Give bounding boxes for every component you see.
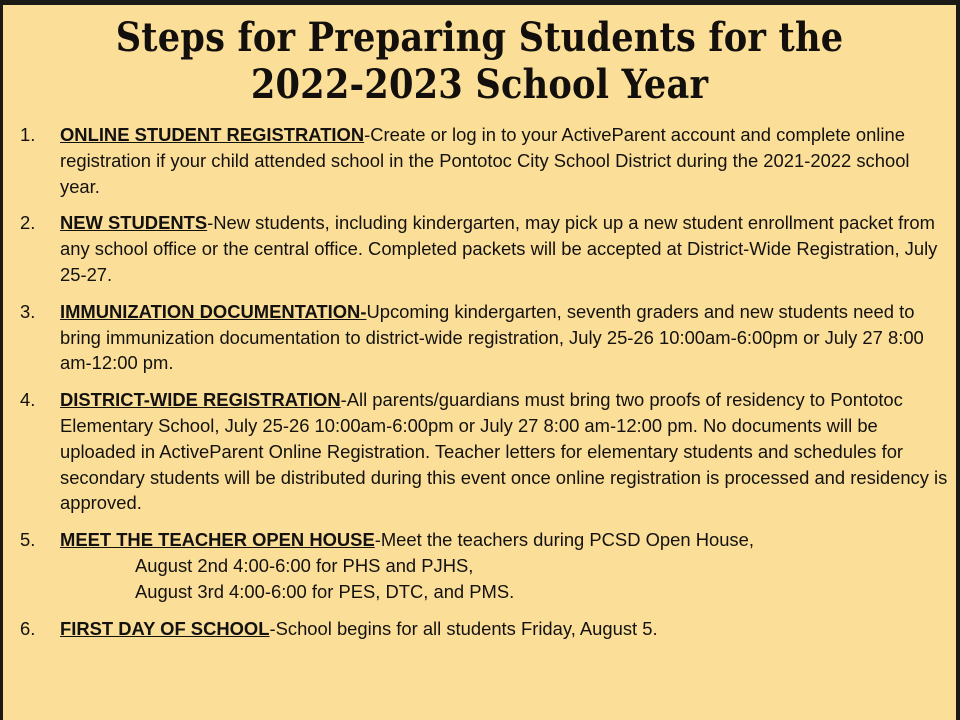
title-line-1: Steps for Preparing Students for the	[60, 14, 899, 61]
list-item-number: 3.	[20, 299, 50, 325]
list-item-text: NEW STUDENTS-New students, including kin…	[60, 210, 948, 287]
list-item-description: -Meet the teachers during PCSD Open Hous…	[375, 529, 754, 550]
list-item-text: FIRST DAY OF SCHOOL-School begins for al…	[60, 616, 948, 642]
list-item-description: -School begins for all students Friday, …	[269, 618, 657, 639]
list-item-number: 5.	[20, 527, 50, 553]
list-item: 3.IMMUNIZATION DOCUMENTATION-Upcoming ki…	[3, 299, 956, 376]
list-item-heading: IMMUNIZATION DOCUMENTATION-	[60, 301, 366, 322]
list-item-text: IMMUNIZATION DOCUMENTATION-Upcoming kind…	[60, 299, 948, 376]
page-title: Steps for Preparing Students for the 202…	[3, 5, 956, 108]
list-item: 1.ONLINE STUDENT REGISTRATION-Create or …	[3, 122, 956, 199]
list-item-subline: August 3rd 4:00-6:00 for PES, DTC, and P…	[60, 579, 948, 605]
list-item: 6.FIRST DAY OF SCHOOL-School begins for …	[3, 616, 956, 642]
list-item-text: ONLINE STUDENT REGISTRATION-Create or lo…	[60, 122, 948, 199]
list-item-heading: NEW STUDENTS	[60, 212, 207, 233]
list-item: 5.MEET THE TEACHER OPEN HOUSE-Meet the t…	[3, 527, 956, 604]
list-item-number: 4.	[20, 387, 50, 413]
list-item-heading: MEET THE TEACHER OPEN HOUSE	[60, 529, 375, 550]
list-item-number: 1.	[20, 122, 50, 148]
list-item-heading: ONLINE STUDENT REGISTRATION	[60, 124, 364, 145]
list-item: 4.DISTRICT-WIDE REGISTRATION-All parents…	[3, 387, 956, 516]
list-item: 2.NEW STUDENTS-New students, including k…	[3, 210, 956, 287]
list-item-number: 6.	[20, 616, 50, 642]
title-line-2: 2022-2023 School Year	[60, 61, 899, 108]
flyer-page: Steps for Preparing Students for the 202…	[3, 5, 956, 720]
list-item-text: MEET THE TEACHER OPEN HOUSE-Meet the tea…	[60, 527, 948, 553]
list-item-subline: August 2nd 4:00-6:00 for PHS and PJHS,	[60, 553, 948, 579]
list-item-heading: FIRST DAY OF SCHOOL	[60, 618, 269, 639]
list-item-heading: DISTRICT-WIDE REGISTRATION	[60, 389, 341, 410]
list-item-text: DISTRICT-WIDE REGISTRATION-All parents/g…	[60, 387, 948, 516]
list-item-number: 2.	[20, 210, 50, 236]
steps-list: 1.ONLINE STUDENT REGISTRATION-Create or …	[3, 122, 956, 641]
